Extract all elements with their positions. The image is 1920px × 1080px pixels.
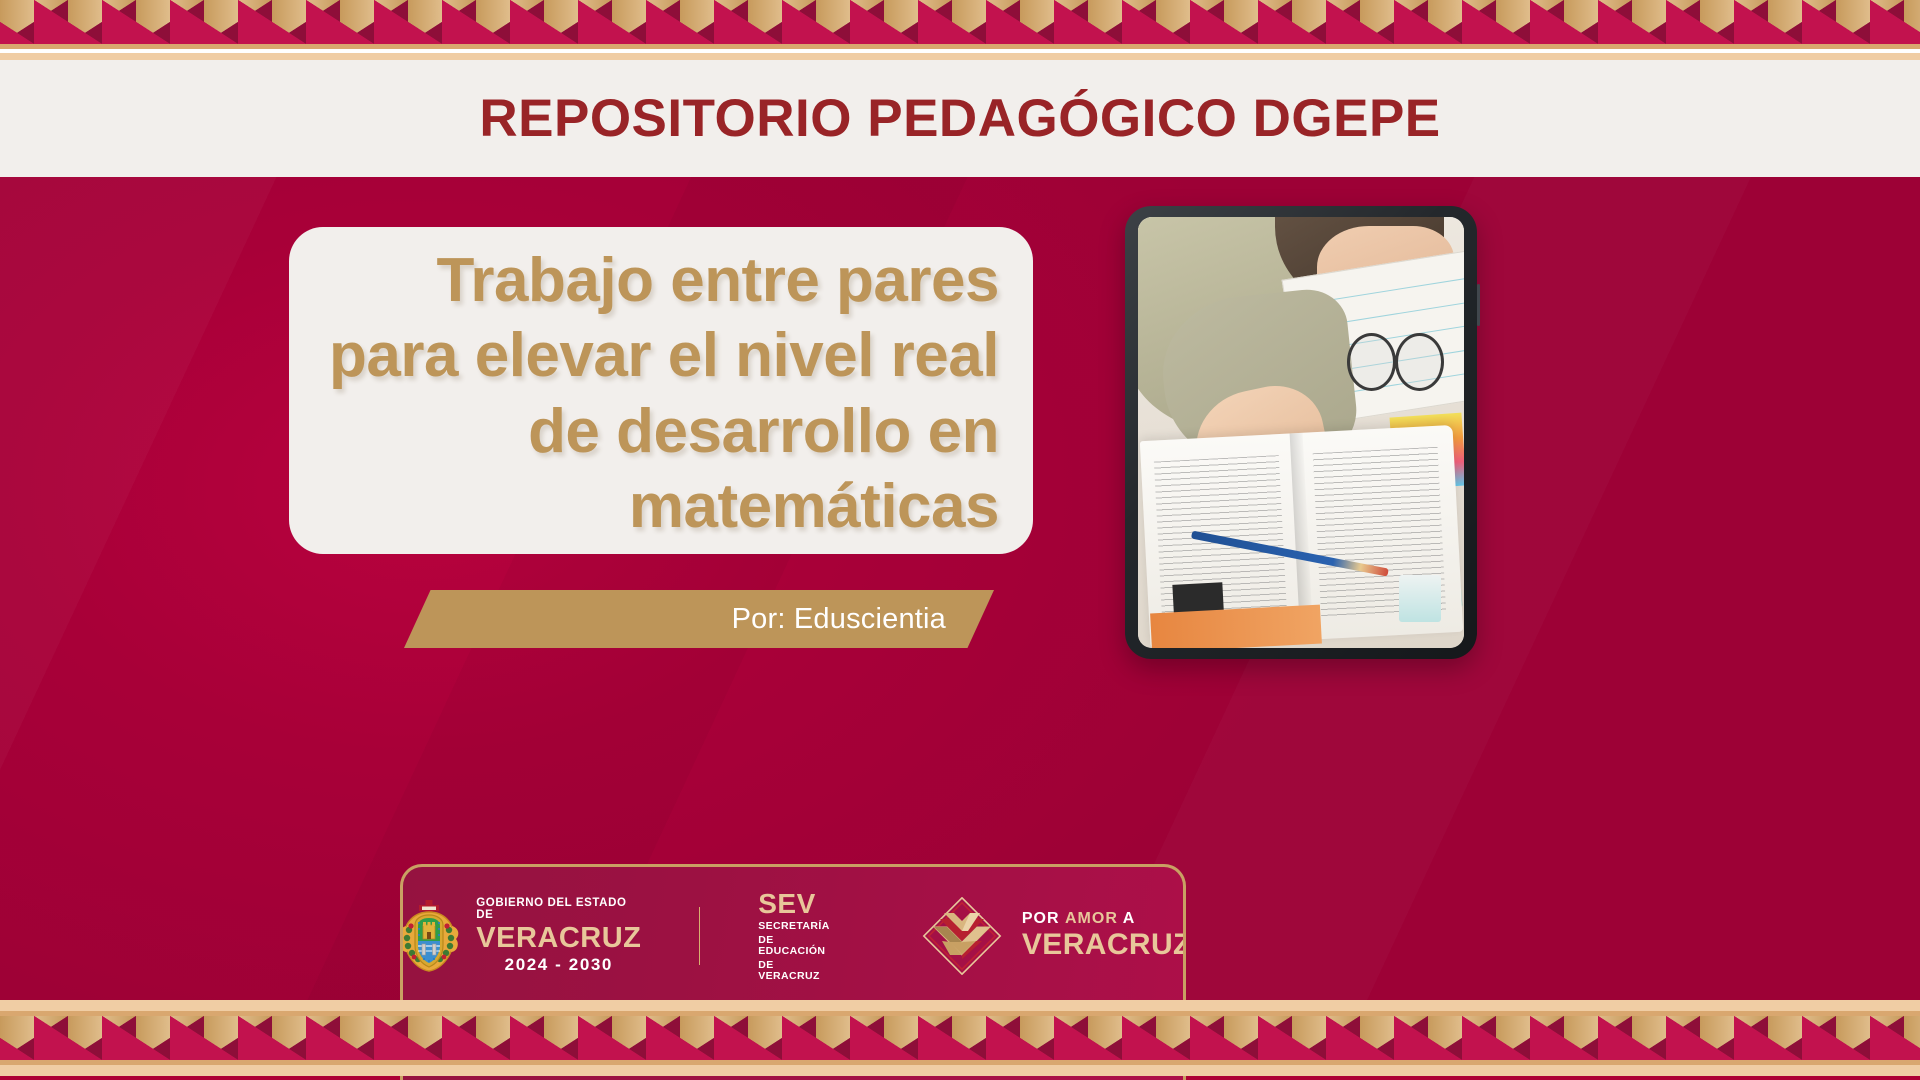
greca-triangle-strip-top <box>0 0 1920 44</box>
veracruz-coat-of-arms-icon <box>400 899 464 973</box>
band-rule-thick-bottom <box>0 1065 1920 1076</box>
photo-eraser <box>1399 575 1441 622</box>
amor-line-2: VERACRUZ <box>1022 930 1186 961</box>
student-study-photo <box>1138 217 1464 648</box>
logo-divider <box>699 907 700 965</box>
decorative-band-top <box>0 0 1920 60</box>
sev-acronym: SEV <box>758 889 830 918</box>
government-logo: GOBIERNO DEL ESTADO DE VERACRUZ 2024 - 2… <box>400 898 641 973</box>
title-line-1: Trabajo entre pares <box>329 243 999 318</box>
gov-line-2: VERACRUZ <box>476 924 641 953</box>
header-bar: REPOSITORIO PEDAGÓGICO DGEPE <box>0 60 1920 177</box>
presentation-title: Trabajo entre pares para elevar el nivel… <box>329 243 999 543</box>
tablet-device <box>1125 206 1477 659</box>
por-amor-text: POR AMOR A VERACRUZ <box>1022 911 1186 960</box>
sev-sub-2: DE EDUCACIÓN <box>758 935 830 957</box>
author-ribbon: Por: Eduscientia <box>404 590 994 648</box>
title-line-3: de desarrollo en <box>329 394 999 469</box>
author-label: Por: Eduscientia <box>732 603 946 636</box>
title-card: Trabajo entre pares para elevar el nivel… <box>289 227 1033 554</box>
title-line-4: matemáticas <box>329 469 999 544</box>
photo-glasses <box>1347 333 1445 385</box>
main-stage: Trabajo entre pares para elevar el nivel… <box>0 177 1920 1000</box>
page-title: REPOSITORIO PEDAGÓGICO DGEPE <box>479 88 1440 149</box>
greca-triangles-top <box>0 0 1920 44</box>
sev-sub-1: SECRETARÍA <box>758 921 830 932</box>
amor-line-1: POR AMOR A <box>1022 911 1186 927</box>
government-logo-text: GOBIERNO DEL ESTADO DE VERACRUZ 2024 - 2… <box>476 898 641 973</box>
woven-heart-diamond-icon <box>920 897 1004 975</box>
title-line-2: para elevar el nivel real <box>329 318 999 393</box>
tablet-screen <box>1138 217 1464 648</box>
sev-logo: SEV SECRETARÍA DE EDUCACIÓN DE VERACRUZ <box>758 889 830 982</box>
sev-sub-3: DE VERACRUZ <box>758 960 830 982</box>
decorative-band-bottom <box>0 1000 1920 1080</box>
slide-root: REPOSITORIO PEDAGÓGICO DGEPE Trabajo ent… <box>0 0 1920 1080</box>
band-rule-thick-top <box>0 53 1920 60</box>
por-amor-a-veracruz-logo: POR AMOR A VERACRUZ <box>920 897 1186 975</box>
footer-logos-row: GOBIERNO DEL ESTADO DE VERACRUZ 2024 - 2… <box>400 889 1186 982</box>
band-rule-thick-bottom-top <box>0 1000 1920 1011</box>
photo-book-figure <box>1172 582 1224 614</box>
greca-triangle-strip-bottom <box>0 1016 1920 1060</box>
greca-triangles-bottom <box>0 1016 1920 1060</box>
gov-line-3: 2024 - 2030 <box>476 956 641 973</box>
gov-line-1: GOBIERNO DEL ESTADO DE <box>476 898 641 921</box>
photo-orange-book <box>1150 605 1321 648</box>
